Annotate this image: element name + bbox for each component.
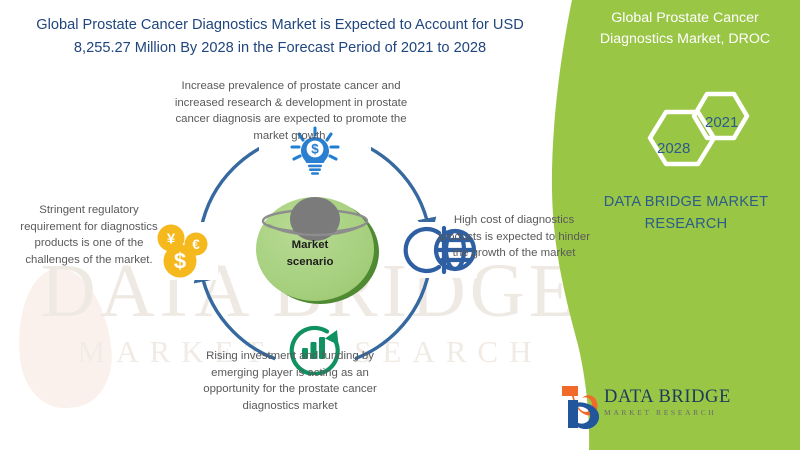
callout-opportunity-bottom: Rising investment and funding by emergin… — [190, 348, 390, 415]
callout-driver-top: Increase prevalence of prostate cancer a… — [164, 78, 418, 145]
logo-main-text: DATA BRIDGE — [604, 388, 744, 407]
watermark-blob — [11, 264, 117, 413]
logo-sub-text: MARKET RESEARCH — [604, 407, 744, 419]
sidebar-title: Global Prostate Cancer Diagnostics Marke… — [580, 8, 790, 51]
svg-text:€: € — [192, 237, 200, 252]
brand-name: DATA BRIDGE MARKET RESEARCH — [586, 192, 786, 236]
svg-text:¥: ¥ — [167, 231, 176, 248]
svg-text:$: $ — [174, 249, 186, 274]
center-node — [256, 197, 379, 304]
callout-restraint-left: Stringent regulatory requirement for dia… — [10, 202, 168, 269]
logo-text: DATA BRIDGE MARKET RESEARCH — [604, 388, 744, 420]
droc-cycle-diagram: $ ¥ € $ — [150, 125, 480, 375]
logo-orange-stroke — [562, 386, 578, 396]
infographic-canvas: DATA BRIDGE MARKET RESEARCH Global Prost… — [0, 0, 800, 450]
page-title: Global Prostate Cancer Diagnostics Marke… — [20, 14, 540, 59]
callout-challenge-right: High cost of diagnostics products is exp… — [436, 212, 592, 262]
hexagon-shapes — [630, 88, 780, 184]
year-hexagon-group: 2021 2028 — [630, 88, 780, 184]
